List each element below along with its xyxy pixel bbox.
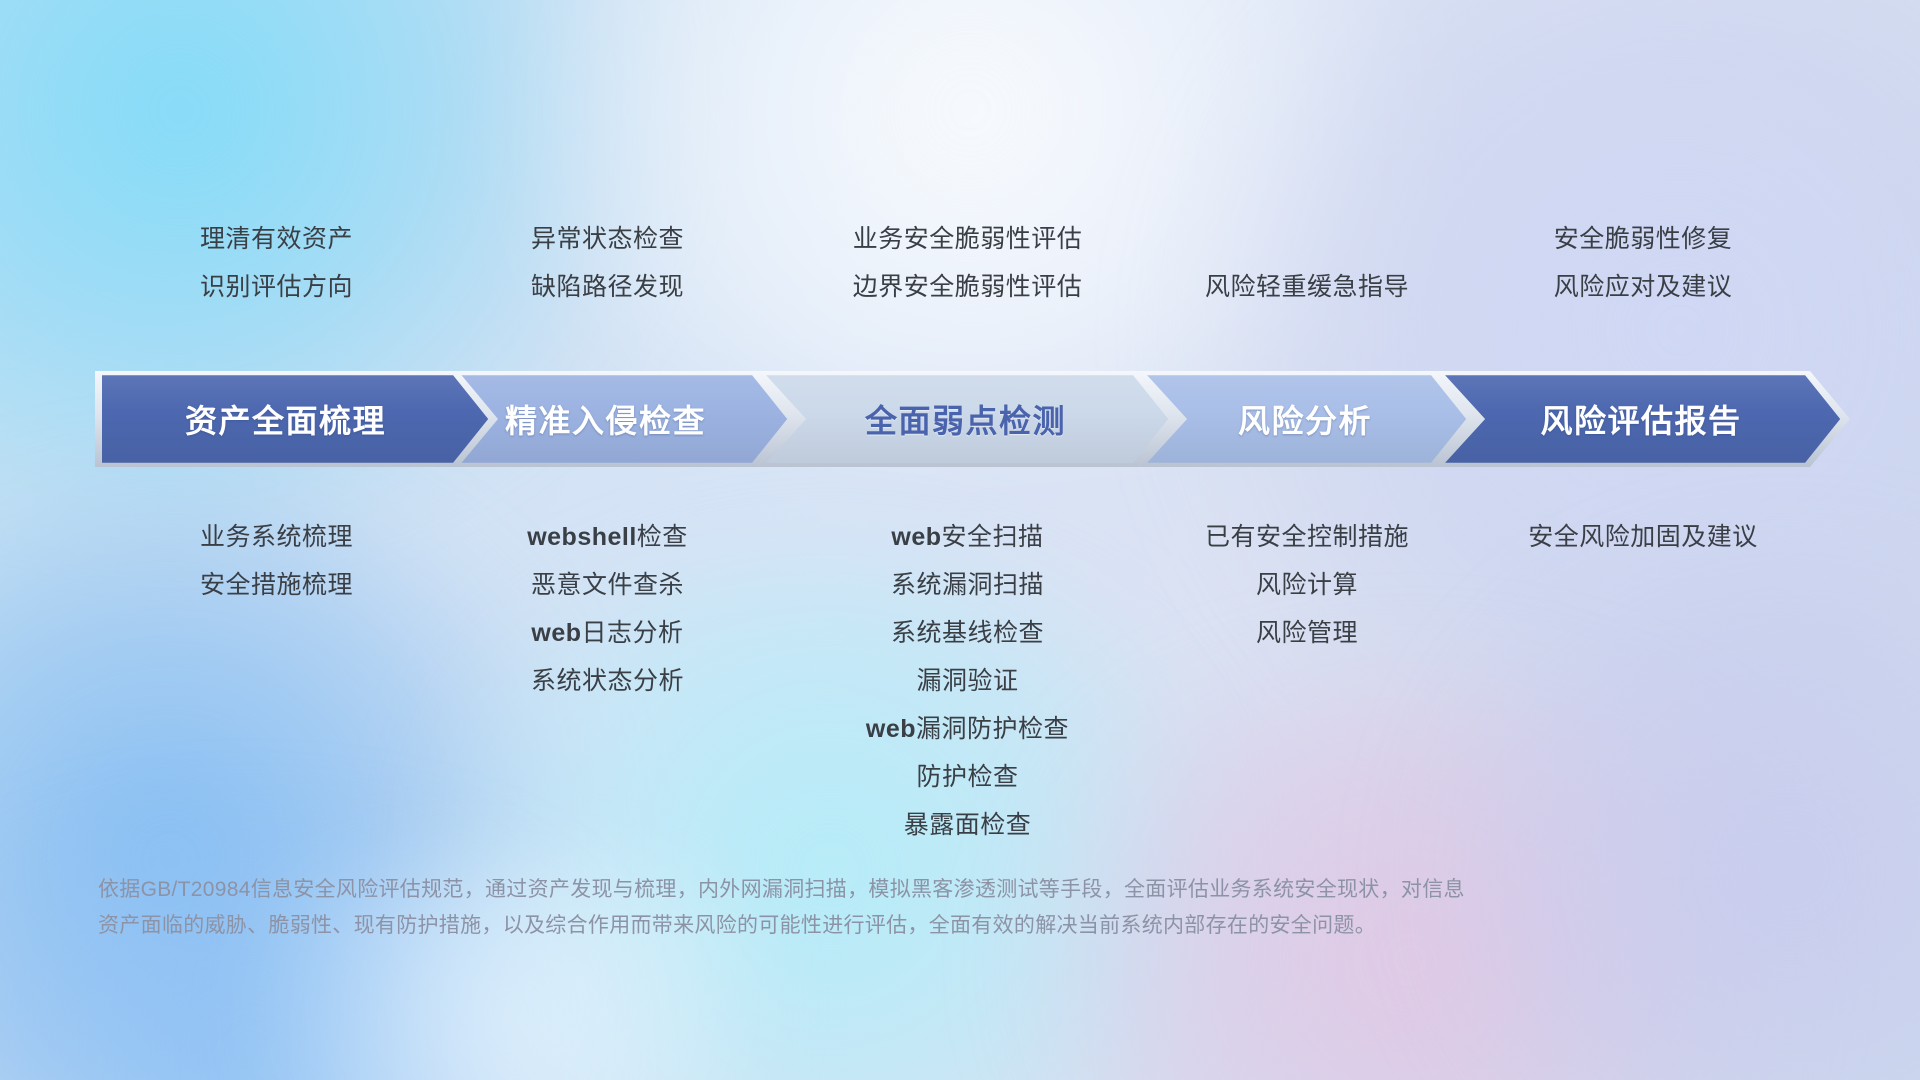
stage-detail-item: web日志分析 [527,609,688,657]
process-arrow-label-asset-review: 资产全面梳理 [185,396,386,442]
detail-item-cjk: 系统基线检查 [891,619,1044,647]
footer-description: 依据GB/T20984信息安全风险评估规范，通过资产发现与梳理，内外网漏洞扫描，… [98,872,1738,944]
footer-line: 资产面临的威胁、脆弱性、现有防护措施，以及综合作用而带来风险的可能性进行评估，全… [98,908,1738,944]
slide-canvas: 理清有效资产识别评估方向 异常状态检查缺陷路径发现 业务安全脆弱性评估边界安全脆… [0,0,1920,1080]
detail-item-cjk: 漏洞验证 [916,667,1018,695]
detail-item-cjk: 安全措施梳理 [200,571,353,599]
process-arrow-asset-review[interactable]: 资产全面梳理 [95,371,498,467]
detail-item-latin: web [866,715,916,743]
stage-top-note-line: 边界安全脆弱性评估 [853,263,1083,311]
process-arrow-risk-analysis[interactable]: 风险分析 [1138,371,1476,467]
stage-detail-item: 系统漏洞扫描 [866,561,1069,609]
stage-detail-list-asset-review: 业务系统梳理安全措施梳理 [200,513,353,609]
detail-item-cjk: 检查 [637,523,688,551]
stage-top-note-line: 风险轻重缓急指导 [1205,263,1409,311]
stage-top-notes-intrusion-check: 异常状态检查缺陷路径发现 [531,215,684,311]
process-arrow-label-risk-analysis: 风险分析 [1238,396,1372,442]
stage-detail-item: 系统状态分析 [527,657,688,705]
detail-item-cjk: 系统状态分析 [531,667,684,695]
stage-detail-list-intrusion-check: webshell检查恶意文件查杀web日志分析系统状态分析 [527,513,688,705]
stage-top-notes-weakness-detect: 业务安全脆弱性评估边界安全脆弱性评估 [853,215,1083,311]
stage-detail-item: 风险管理 [1205,609,1409,657]
stage-top-note-line: 理清有效资产 [200,215,353,263]
stage-top-note-line: 业务安全脆弱性评估 [853,215,1083,263]
stage-top-notes-asset-review: 理清有效资产识别评估方向 [200,215,353,311]
stage-detail-item: 风险计算 [1205,561,1409,609]
stage-detail-item: web安全扫描 [866,513,1069,561]
stage-top-note-line: 异常状态检查 [531,215,684,263]
process-arrow-label-assessment-report: 风险评估报告 [1540,396,1741,442]
detail-item-cjk: 日志分析 [582,619,684,647]
detail-item-cjk: 暴露面检查 [904,811,1032,839]
stage-top-note-line: 识别评估方向 [200,263,353,311]
stage-detail-list-assessment-report: 安全风险加固及建议 [1528,513,1758,561]
detail-item-cjk: 安全扫描 [942,523,1044,551]
stage-detail-item: 漏洞验证 [866,657,1069,705]
detail-item-cjk: 风险管理 [1256,619,1358,647]
stage-detail-item: webshell检查 [527,513,688,561]
detail-item-cjk: 系统漏洞扫描 [891,571,1044,599]
stage-top-notes-assessment-report: 安全脆弱性修复风险应对及建议 [1554,215,1733,311]
detail-item-cjk: 业务系统梳理 [200,523,353,551]
stage-detail-list-risk-analysis: 已有安全控制措施风险计算风险管理 [1205,513,1409,657]
stage-top-note-line: 风险应对及建议 [1554,263,1733,311]
stage-detail-item: 恶意文件查杀 [527,561,688,609]
stage-detail-item: 系统基线检查 [866,609,1069,657]
stage-detail-item: 安全措施梳理 [200,561,353,609]
stage-detail-item: web漏洞防护检查 [866,705,1069,753]
stage-top-notes-risk-analysis: 风险轻重缓急指导 [1205,263,1409,311]
process-arrow-label-weakness-detect: 全面弱点检测 [865,396,1066,442]
stage-detail-item: 防护检查 [866,753,1069,801]
stage-detail-item: 业务系统梳理 [200,513,353,561]
process-arrow-band: 资产全面梳理精准入侵检查全面弱点检测风险分析风险评估报告 [95,371,1850,467]
detail-item-cjk: 已有安全控制措施 [1205,523,1409,551]
process-arrow-assessment-report[interactable]: 风险评估报告 [1436,371,1850,467]
detail-item-cjk: 恶意文件查杀 [531,571,684,599]
footer-line: 依据GB/T20984信息安全风险评估规范，通过资产发现与梳理，内外网漏洞扫描，… [98,872,1738,908]
detail-item-cjk: 安全风险加固及建议 [1528,523,1758,551]
process-arrow-weakness-detect[interactable]: 全面弱点检测 [757,371,1178,467]
stage-detail-item: 已有安全控制措施 [1205,513,1409,561]
detail-item-cjk: 防护检查 [916,763,1018,791]
stage-detail-list-weakness-detect: web安全扫描系统漏洞扫描系统基线检查漏洞验证web漏洞防护检查防护检查暴露面检… [866,513,1069,849]
stage-top-note-line: 安全脆弱性修复 [1554,215,1733,263]
detail-item-cjk: 漏洞防护检查 [916,715,1069,743]
detail-item-latin: web [531,619,581,647]
detail-item-latin: webshell [527,523,637,551]
process-arrow-label-intrusion-check: 精准入侵检查 [505,396,706,442]
stage-top-note-line: 缺陷路径发现 [531,263,684,311]
stage-detail-item: 安全风险加固及建议 [1528,513,1758,561]
detail-item-latin: web [891,523,941,551]
stage-detail-item: 暴露面检查 [866,801,1069,849]
detail-item-cjk: 风险计算 [1256,571,1358,599]
